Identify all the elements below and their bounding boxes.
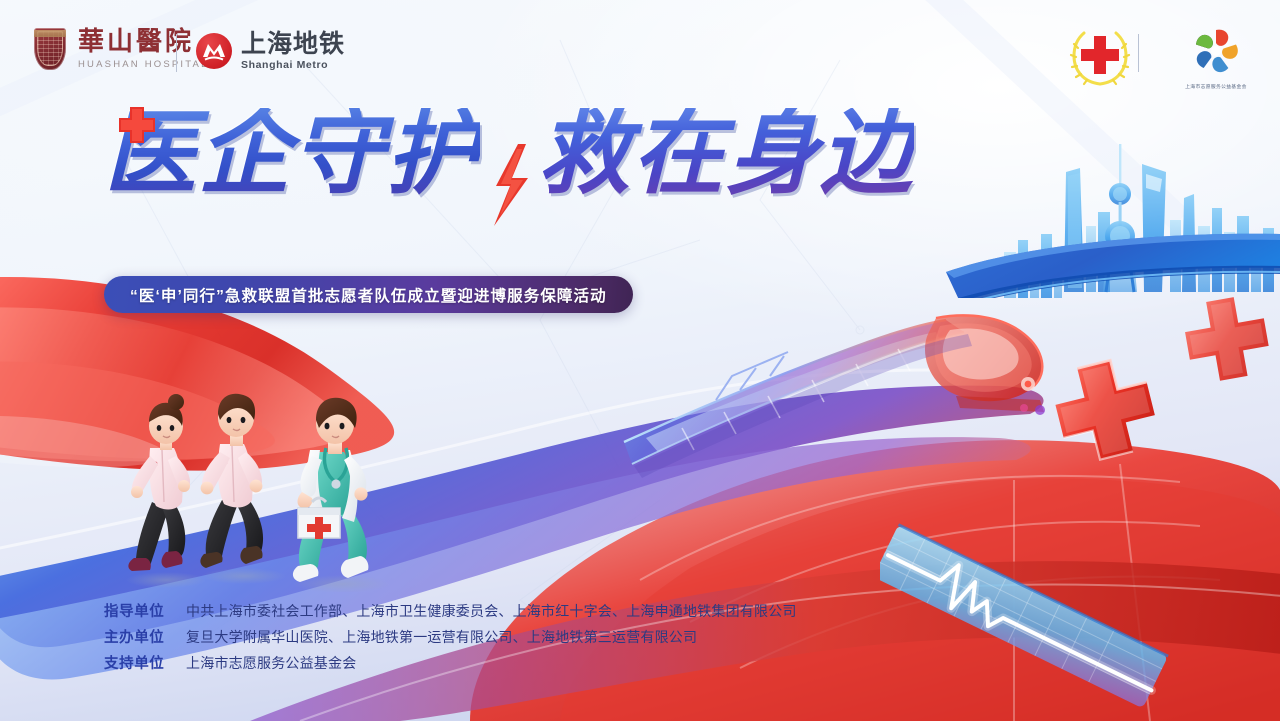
event-subtitle-banner: “医‘申’同行”急救联盟首批志愿者队伍成立暨迎进博服务保障活动 xyxy=(104,276,633,313)
credit-label: 支持单位 xyxy=(104,652,186,673)
title-line-1: 医企守护 xyxy=(104,108,480,200)
credit-row: 支持单位 上海市志愿服务公益基金会 xyxy=(104,652,797,673)
red-cross-society-emblem-icon[interactable] xyxy=(1069,26,1131,88)
title-line-2: 救在身边 xyxy=(538,108,914,200)
event-subtitle-text: “医‘申’同行”急救联盟首批志愿者队伍成立暨迎进博服务保障活动 xyxy=(130,284,607,306)
metro-staff-male-runner xyxy=(200,394,263,568)
credit-label: 指导单位 xyxy=(104,600,186,621)
metro-staff-female-runner xyxy=(128,394,190,571)
volunteer-foundation-flower-logo-icon xyxy=(1156,24,1276,78)
glass-red-cross-3d-icon xyxy=(1178,290,1280,400)
foundation-caption: 上海市志愿服务公益基金会 xyxy=(1158,83,1273,90)
hospital-shield-badge-icon xyxy=(34,28,66,70)
doctor-male-runner xyxy=(293,398,368,582)
metro-train-3d-glass-icon xyxy=(620,272,1100,562)
huashan-hospital-logo[interactable]: 華山醫院 HUASHAN HOSPITAL xyxy=(34,28,209,70)
hospital-name-en: HUASHAN HOSPITAL xyxy=(78,59,209,70)
glass-red-cross-3d-icon xyxy=(1050,352,1170,482)
shanghai-skyline-3d-icon xyxy=(938,116,1280,298)
logo-divider xyxy=(1138,34,1139,72)
red-medical-cross-icon xyxy=(116,104,158,146)
credit-value: 中共上海市委社会工作部、上海市卫生健康委员会、上海市红十字会、上海申通地铁集团有… xyxy=(186,601,797,621)
metro-name-en: Shanghai Metro xyxy=(241,59,345,71)
ecg-heartbeat-waveform-icon xyxy=(880,520,1180,720)
metro-name-cn: 上海地铁 xyxy=(241,31,345,57)
logo-divider xyxy=(176,34,177,72)
shanghai-metro-logo-icon xyxy=(196,33,232,69)
shanghai-metro-logo[interactable]: 上海地铁 Shanghai Metro xyxy=(196,31,345,71)
hospital-name-cn: 華山醫院 xyxy=(78,28,209,55)
running-figures-group xyxy=(104,352,434,592)
event-poster: 華山醫院 HUASHAN HOSPITAL 上海地铁 Shanghai Metr… xyxy=(0,0,1280,721)
credit-row: 主办单位 复旦大学附属华山医院、上海地铁第一运营有限公司、上海地铁第三运营有限公… xyxy=(104,626,797,647)
red-lightning-bolt-icon xyxy=(488,142,534,228)
poster-title: 医企守护 救在身边 xyxy=(104,108,914,200)
logo-bar: 華山醫院 HUASHAN HOSPITAL 上海地铁 Shanghai Metr… xyxy=(0,0,1280,104)
volunteer-foundation-logo[interactable]: 上海市志愿服务公益基金会 xyxy=(1156,24,1276,96)
credit-label: 主办单位 xyxy=(104,626,186,647)
credit-value: 上海市志愿服务公益基金会 xyxy=(186,653,356,673)
credit-value: 复旦大学附属华山医院、上海地铁第一运营有限公司、上海地铁第三运营有限公司 xyxy=(186,627,697,647)
credit-row: 指导单位 中共上海市委社会工作部、上海市卫生健康委员会、上海市红十字会、上海申通… xyxy=(104,600,797,621)
credits-block: 指导单位 中共上海市委社会工作部、上海市卫生健康委员会、上海市红十字会、上海申通… xyxy=(104,600,797,678)
